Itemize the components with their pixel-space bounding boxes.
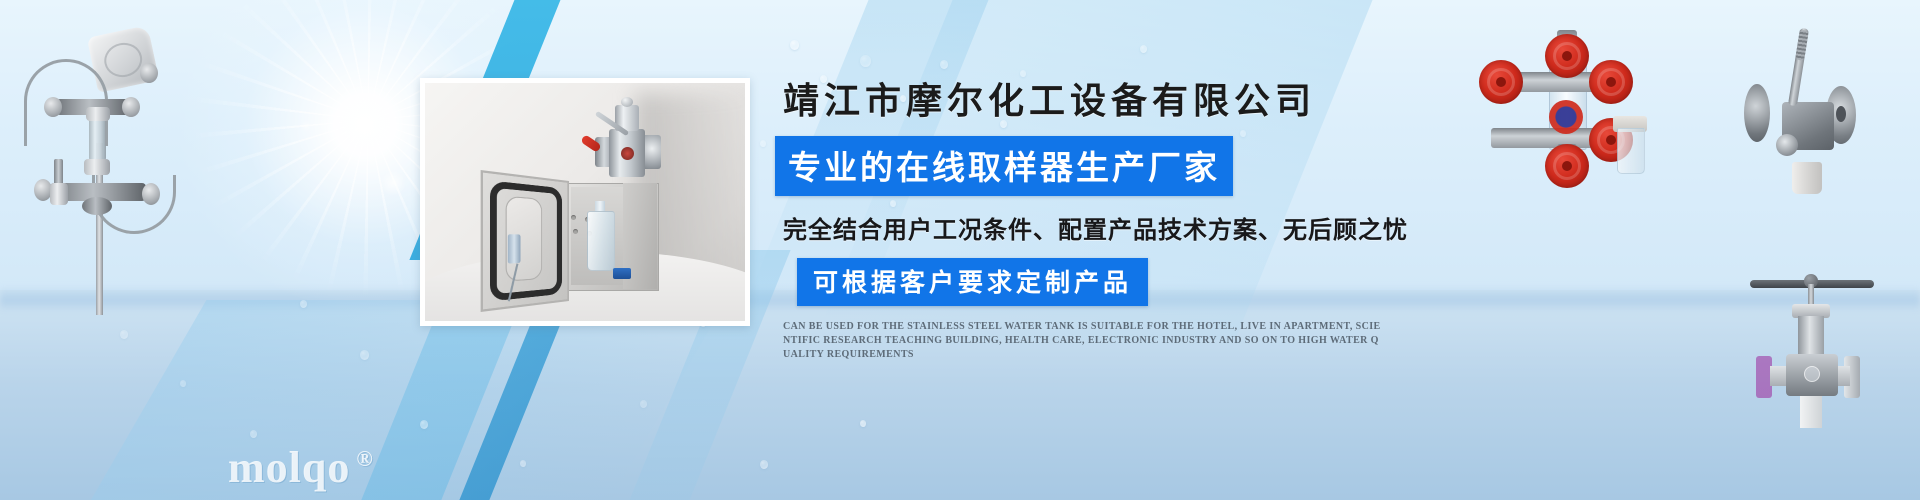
rig-flange [140,63,158,83]
primary-slogan-badge: 专业的在线取样器生产厂家 [775,136,1233,196]
water-droplet-icon [940,60,948,69]
rig-flange [122,97,140,117]
rig-relief-valve [54,159,63,185]
rig-flange [44,97,62,117]
water-droplet-icon [420,420,428,429]
english-line: UALITY REQUIREMENTS [783,348,1383,362]
english-line: CAN BE USED FOR THE STAINLESS STEEL WATE… [783,320,1383,334]
gate-valve-brand-badge [1804,366,1820,382]
red-handwheel-valve-manifold-render [1465,28,1685,178]
manifold-brand-seal [1549,100,1583,134]
rig-flange [142,183,160,205]
handwheel-icon [1589,60,1633,104]
water-droplet-icon [860,420,866,427]
handwheel-icon [1545,34,1589,78]
water-droplet-icon [520,460,526,467]
water-droplet-icon [790,40,799,50]
registered-mark-icon: ® [356,446,373,471]
stainless-sampling-cabinet-photo [420,78,750,326]
rig-fitting [84,159,110,175]
gate-valve-render [1748,268,1918,428]
cabinet-door [481,170,569,312]
lever-valve-handle [1788,28,1809,106]
marketing-copy-block: 靖江市摩尔化工设备有限公司 专业的在线取样器生产厂家 完全结合用户工况条件、配置… [775,72,1415,362]
door-lock [508,234,521,263]
water-droplet-icon [360,350,369,360]
rig-fitting [86,107,110,121]
handwheel-icon [1545,144,1589,188]
sample-bottle-cap [613,268,631,279]
watermark-text: molqo [228,443,350,492]
water-droplet-icon [120,330,128,339]
rig-valve-body [50,183,68,205]
company-name: 靖江市摩尔化工设备有限公司 [783,72,1415,124]
tertiary-slogan-badge: 可根据客户要求定制产品 [797,258,1148,306]
water-droplet-icon [760,460,768,469]
valve-brand-badge [621,147,634,160]
sample-bottle [587,211,615,271]
lever-valve-dial [1776,134,1798,156]
brand-watermark: molqo® [228,442,374,493]
lever-valve-collection-cup [1792,162,1822,194]
english-description: CAN BE USED FOR THE STAINLESS STEEL WATE… [783,320,1383,362]
sampling-rig-render [10,25,190,315]
lever-valve-flange-left [1744,84,1770,142]
product-hero-banner: 靖江市摩尔化工设备有限公司 专业的在线取样器生产厂家 完全结合用户工况条件、配置… [0,0,1920,500]
water-droplet-icon [640,400,647,408]
sampling-valve-assembly [595,103,661,187]
water-droplet-icon [1140,45,1147,53]
water-droplet-icon [300,300,307,308]
water-droplet-icon [860,55,871,67]
lens-flare-dot-icon [300,120,312,132]
water-droplet-icon [760,140,766,147]
valve-knob [621,97,633,107]
handwheel-icon [1479,60,1523,104]
gate-valve-neck [1798,316,1824,354]
secondary-slogan: 完全结合用户工况条件、配置产品技术方案、无后顾之忧 [783,210,1415,245]
lens-flare-dot-icon [380,170,406,196]
english-line: NTIFIC RESEARCH TEACHING BUILDING, HEALT… [783,334,1383,348]
flanged-lever-valve-render [1710,22,1910,212]
rig-fitting [82,197,112,215]
manifold-sample-bottle [1617,128,1645,174]
water-droplet-icon [180,380,186,387]
water-droplet-icon [250,430,257,438]
gate-valve-outlet [1800,396,1822,428]
